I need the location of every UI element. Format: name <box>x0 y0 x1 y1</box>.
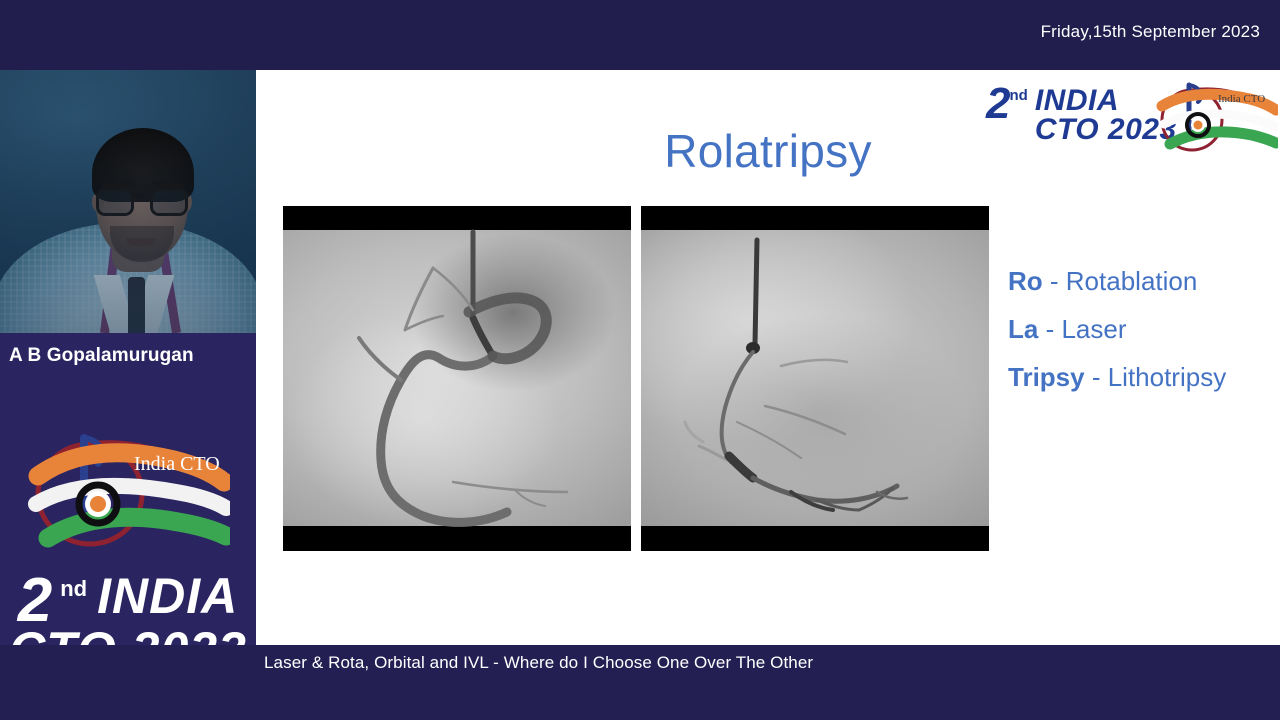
slide-wordmark-ordinal-suffix: nd <box>1009 88 1027 103</box>
legend-key-la: La <box>1008 314 1038 344</box>
footer-bar: Laser & Rota, Orbital and IVL - Where do… <box>0 645 1280 720</box>
legend-dash-tripsy: - <box>1085 362 1108 392</box>
legend-item-tripsy: Tripsy - Lithotripsy <box>1008 364 1280 390</box>
slide-wordmark-ordinal: 2 <box>986 86 1009 122</box>
broadcast-player: Friday,15th September 2023 <box>0 0 1280 720</box>
wordmark-ordinal: 2 <box>18 574 50 627</box>
legend-key-ro: Ro <box>1008 266 1043 296</box>
legend-key-tripsy: Tripsy <box>1008 362 1085 392</box>
speaker-name: A B Gopalamurugan <box>0 345 194 367</box>
angiogram-image-right[interactable] <box>641 206 989 551</box>
rolatripsy-legend: Ro - Rotablation La - Laser Tripsy - Lit… <box>1008 268 1280 412</box>
wordmark-ordinal-suffix: nd <box>60 578 87 600</box>
legend-item-ro: Ro - Rotablation <box>1008 268 1280 294</box>
session-title: Laser & Rota, Orbital and IVL - Where do… <box>264 653 813 673</box>
angiogram-vessels-right <box>641 206 989 551</box>
india-cto-flag-logo-icon: India CTO <box>28 430 230 558</box>
wordmark-india: INDIA <box>97 574 238 619</box>
speaker-name-banner: A B Gopalamurugan <box>0 333 256 378</box>
wordmark-row-1: 2 nd INDIA <box>0 574 256 627</box>
legend-item-la: La - Laser <box>1008 316 1280 342</box>
presentation-slide[interactable]: Rolatripsy 2 nd INDIA CTO 2023 <box>256 70 1280 645</box>
slide-wordmark: 2 nd INDIA CTO 2023 <box>986 86 1177 145</box>
slide-india-cto-flag-icon: India CTO <box>1156 80 1278 158</box>
top-bar: Friday,15th September 2023 <box>0 0 1280 70</box>
angiogram-vessels-left <box>283 206 631 551</box>
left-panel: A B Gopalamurugan <box>0 70 256 720</box>
legend-dash-la: - <box>1038 314 1061 344</box>
speaker-video-feed[interactable] <box>0 70 256 333</box>
legend-value-ro: Rotablation <box>1066 266 1198 296</box>
event-date: Friday,15th September 2023 <box>1041 22 1260 42</box>
angiogram-image-left[interactable] <box>283 206 631 551</box>
video-vignette <box>0 70 256 333</box>
legend-value-la: Laser <box>1061 314 1126 344</box>
slide-event-logo: 2 nd INDIA CTO 2023 <box>980 78 1280 160</box>
svg-text:India CTO: India CTO <box>134 453 220 475</box>
svg-text:India CTO: India CTO <box>1218 93 1265 105</box>
legend-value-tripsy: Lithotripsy <box>1108 362 1227 392</box>
legend-dash-ro: - <box>1043 266 1066 296</box>
